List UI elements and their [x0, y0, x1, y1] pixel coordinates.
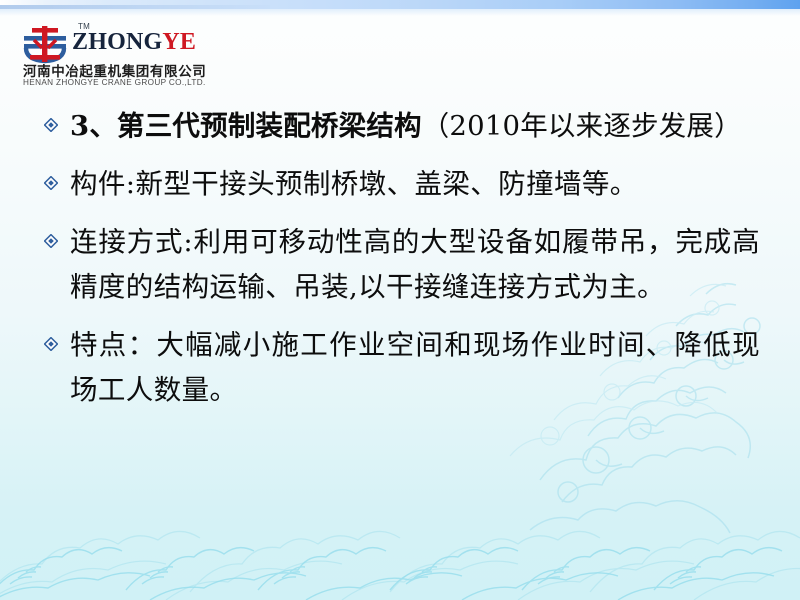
- list-item: 3、第三代预制装配桥梁结构（2010年以来逐步发展）: [44, 104, 760, 149]
- presentation-slide: TM ZHONGYE 河南中冶起重机集团有限公司 HENAN ZHONGYE C…: [0, 0, 800, 600]
- wave-pattern-front: [0, 538, 800, 600]
- bullet1-lead: 3、第三代预制装配桥梁结构: [70, 110, 422, 142]
- list-item-text: 3、第三代预制装配桥梁结构（2010年以来逐步发展）: [70, 104, 760, 149]
- wave-pattern-back: [0, 514, 800, 600]
- company-name-chinese: 河南中冶起重机集团有限公司: [23, 60, 206, 80]
- list-item: 连接方式:利用可移动性高的大型设备如履带吊，完成高精度的结构运输、吊装,以干接缝…: [44, 220, 760, 310]
- logo-wordmark-part1: ZHONG: [72, 29, 162, 55]
- company-logo: TM ZHONGYE 河南中冶起重机集团有限公司 HENAN ZHONGYE C…: [22, 22, 202, 92]
- logo-wordmark-part2: YE: [162, 29, 196, 55]
- logo-wordmark: ZHONGYE: [72, 30, 196, 54]
- bullet1-paren: （2010年以来逐步发展）: [422, 110, 742, 142]
- list-item: 构件:新型干接头预制桥墩、盖梁、防撞墙等。: [44, 162, 760, 207]
- list-item-text: 连接方式:利用可移动性高的大型设备如履带吊，完成高精度的结构运输、吊装,以干接缝…: [70, 220, 760, 310]
- list-item-text: 构件:新型干接头预制桥墩、盖梁、防撞墙等。: [70, 162, 760, 207]
- slide-body: 3、第三代预制装配桥梁结构（2010年以来逐步发展） 构件:新型干接头预制桥墩、…: [44, 104, 760, 426]
- top-accent-stripe-glow: [0, 9, 800, 16]
- bullet-diamond-icon: [44, 220, 70, 253]
- list-item: 特点：大幅减小施工作业空间和现场作业时间、降低现场工人数量。: [44, 323, 760, 413]
- bullet-diamond-icon: [44, 162, 70, 195]
- bullet-diamond-icon: [44, 104, 70, 137]
- top-accent-stripe-edge: [0, 5, 270, 9]
- bullet-diamond-icon: [44, 323, 70, 356]
- list-item-text: 特点：大幅减小施工作业空间和现场作业时间、降低现场工人数量。: [70, 323, 760, 413]
- company-name-english: HENAN ZHONGYE CRANE GROUP CO.,LTD.: [23, 78, 206, 87]
